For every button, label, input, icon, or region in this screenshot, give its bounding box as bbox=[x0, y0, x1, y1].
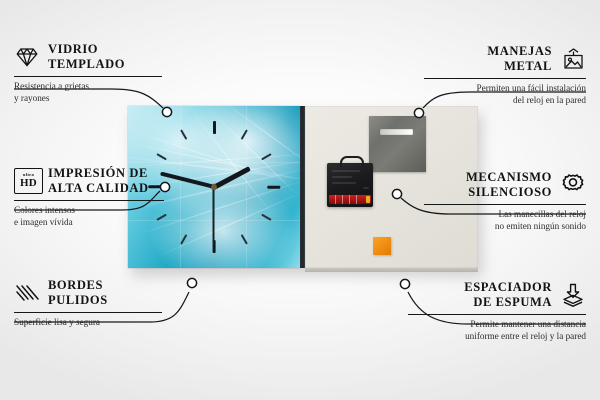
callout-description: Las manecillas del reloj no emiten ningú… bbox=[424, 208, 586, 232]
callout-title: BORDES PULIDOS bbox=[48, 278, 108, 308]
glass-seam bbox=[128, 162, 300, 163]
callout-espaciador-espuma: ESPACIADOR DE ESPUMA Permite mantener un… bbox=[408, 280, 586, 343]
callout-header: BORDES PULIDOS bbox=[14, 278, 164, 308]
gear-icon bbox=[560, 172, 586, 198]
mechanism-hanging-loop bbox=[340, 156, 364, 167]
callout-mecanismo-silencioso: MECANISMO SILENCIOSO Las manecillas del … bbox=[424, 170, 586, 233]
callout-description: Superficie lisa y segura bbox=[14, 316, 164, 328]
callout-rule bbox=[14, 312, 162, 313]
callout-rule bbox=[408, 314, 586, 315]
battery-terminal bbox=[366, 196, 370, 203]
hd-badge-hd: HD bbox=[20, 178, 37, 189]
callout-header: VIDRIO TEMPLADO bbox=[14, 42, 164, 72]
back-panel-bottom-edge bbox=[305, 268, 478, 272]
callout-description: Permite mantener una distancia uniforme … bbox=[408, 318, 586, 342]
callout-rule bbox=[424, 204, 586, 205]
mechanism-detail bbox=[332, 176, 352, 178]
polished-edges-icon bbox=[14, 280, 40, 306]
clock-tick bbox=[180, 129, 187, 140]
mechanism-detail bbox=[332, 170, 360, 172]
clock-mechanism bbox=[327, 163, 373, 207]
callout-description: Resistencia a grietas y rayones bbox=[14, 80, 164, 104]
callout-manejas-metal: MANEJAS METAL Permiten una fácil instala… bbox=[424, 44, 586, 107]
callout-rule bbox=[14, 76, 162, 77]
battery-compartment bbox=[329, 195, 371, 204]
metal-hanger-plate bbox=[369, 116, 426, 172]
leader-node-bordes bbox=[187, 278, 196, 287]
foam-spacer-pad bbox=[373, 237, 391, 255]
callout-rule bbox=[14, 200, 164, 201]
callout-title: VIDRIO TEMPLADO bbox=[48, 42, 125, 72]
callout-vidrio-templado: VIDRIO TEMPLADO Resistencia a grietas y … bbox=[14, 42, 164, 105]
callout-rule bbox=[424, 78, 586, 79]
callout-bordes-pulidos: BORDES PULIDOS Superficie lisa y segura bbox=[14, 278, 164, 328]
callout-description: Permiten una fácil instalación del reloj… bbox=[424, 82, 586, 106]
callout-description: Colores intensos e imagen vívida bbox=[14, 204, 166, 228]
callout-header: ESPACIADOR DE ESPUMA bbox=[408, 280, 586, 310]
clock-minute-hand bbox=[160, 172, 214, 189]
callout-title: MANEJAS METAL bbox=[487, 44, 552, 74]
callout-impresion-alta-calidad: ultra HD IMPRESIÓN DE ALTA CALIDAD Color… bbox=[14, 166, 166, 229]
clock-second-hand bbox=[213, 187, 215, 245]
clock-tick bbox=[213, 121, 216, 134]
callout-title: ESPACIADOR DE ESPUMA bbox=[464, 280, 552, 310]
callout-title: IMPRESIÓN DE ALTA CALIDAD bbox=[48, 166, 149, 196]
infographic-canvas: VIDRIO TEMPLADO Resistencia a grietas y … bbox=[0, 0, 600, 400]
wall-hanger-frame-icon bbox=[560, 46, 586, 72]
callout-header: MECANISMO SILENCIOSO bbox=[424, 170, 586, 200]
mechanism-detail bbox=[332, 182, 356, 184]
foam-spacer-arrow-icon bbox=[560, 282, 586, 308]
clock-tick bbox=[267, 186, 280, 189]
mechanism-detail bbox=[363, 187, 369, 189]
callout-title: MECANISMO SILENCIOSO bbox=[466, 170, 552, 200]
ultra-hd-icon: ultra HD bbox=[14, 168, 40, 194]
callout-header: MANEJAS METAL bbox=[424, 44, 586, 74]
diamond-icon bbox=[14, 44, 40, 70]
hanger-keyhole-slot bbox=[380, 129, 413, 135]
clock-center-cap bbox=[211, 184, 217, 190]
callout-header: ultra HD IMPRESIÓN DE ALTA CALIDAD bbox=[14, 166, 166, 196]
